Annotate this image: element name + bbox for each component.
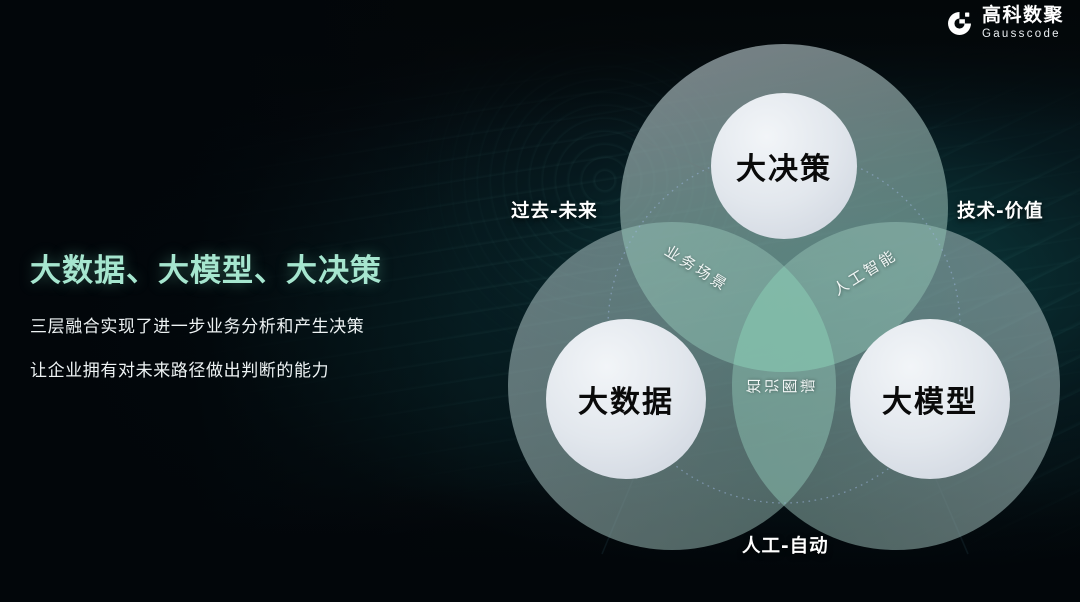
copy-block: 大数据、大模型、大决策 三层融合实现了进一步业务分析和产生决策 让企业拥有对未来… <box>30 252 490 382</box>
venn-label-bigmodel: 大模型 <box>882 377 978 421</box>
venn-shapes <box>494 14 1074 554</box>
venn-label-bigdata: 大数据 <box>578 377 674 421</box>
axis-label-tech-value: 技术-价值 <box>957 197 1044 223</box>
subtitle-line-1: 三层融合实现了进一步业务分析和产生决策 <box>30 317 490 337</box>
venn-diagram: 大决策 大数据 大模型 业务场景 人工智能 知识图谱 <box>494 14 1074 554</box>
slide-canvas: 高科数聚 Gausscode 大数据、大模型、大决策 三层融合实现了进一步业务分… <box>0 0 1080 602</box>
axis-label-manual-auto: 人工-自动 <box>742 532 829 558</box>
venn-label-decision: 大决策 <box>736 144 832 188</box>
page-title: 大数据、大模型、大决策 <box>30 252 490 291</box>
axis-label-past-future: 过去-未来 <box>511 197 598 223</box>
venn-intersection-label-knowledge-graph: 知识图谱 <box>746 376 818 397</box>
subtitle-line-2: 让企业拥有对未来路径做出判断的能力 <box>30 361 490 381</box>
